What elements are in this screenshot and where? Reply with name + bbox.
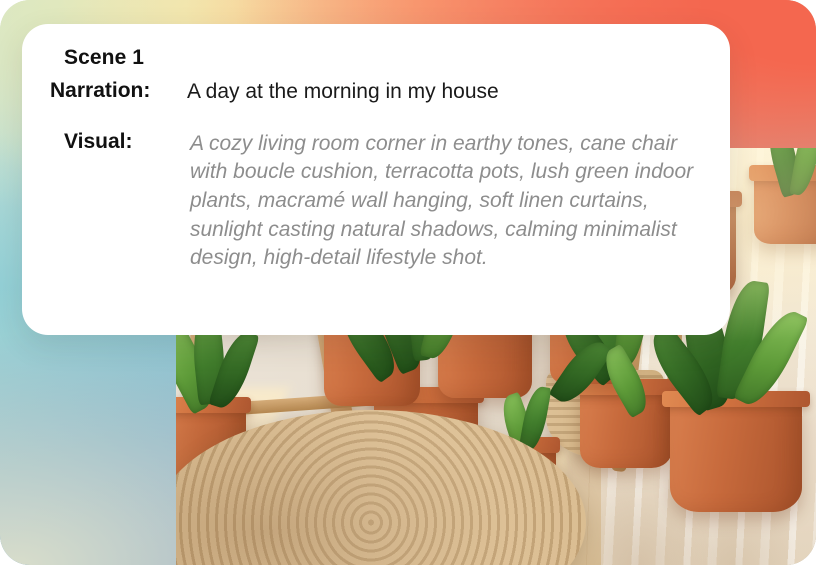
scene-card-frame: Scene 1 Narration: A day at the morning … <box>0 0 816 565</box>
page-title: Scene 1 <box>64 46 700 70</box>
visual-label: Visual: <box>64 130 190 154</box>
narration-label: Narration: <box>50 79 187 103</box>
visual-value: A cozy living room corner in earthy tone… <box>190 130 700 273</box>
narration-value: A day at the morning in my house <box>187 79 499 106</box>
visual-row: Visual: A cozy living room corner in ear… <box>50 130 700 273</box>
scene-text-card: Scene 1 Narration: A day at the morning … <box>22 24 730 335</box>
narration-row: Narration: A day at the morning in my ho… <box>50 79 700 106</box>
terracotta-pot <box>670 400 802 512</box>
